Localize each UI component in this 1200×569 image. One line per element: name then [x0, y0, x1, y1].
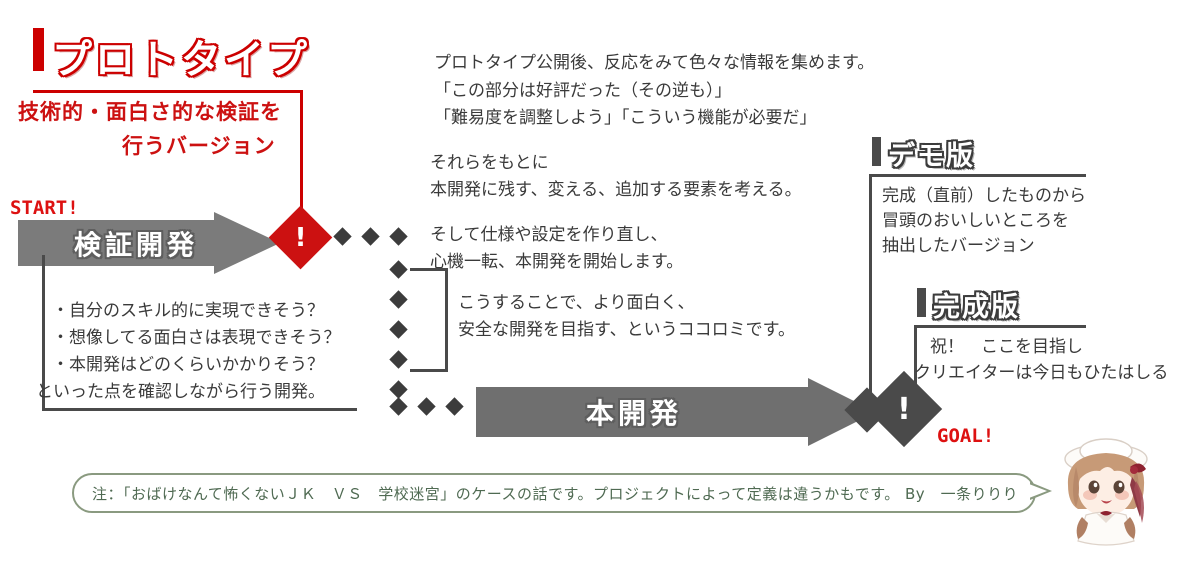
path-dot	[389, 290, 407, 308]
prototype-connector-top	[33, 90, 303, 93]
checklist-line-1: ・自分のスキル的に実現できそう？	[52, 298, 324, 324]
purpose-bracket-vertical	[445, 268, 448, 372]
footer-note-tail-inner	[1029, 484, 1047, 498]
prototype-checkpoint-bang: !	[278, 215, 323, 260]
path-dot	[389, 397, 407, 415]
path-dot	[389, 320, 407, 338]
path-dot	[417, 397, 435, 415]
bang-glyph: !	[295, 223, 307, 253]
final-bracket-top	[914, 325, 1086, 328]
purpose-bracket-bottom	[410, 369, 448, 372]
path-dot	[389, 380, 407, 398]
main-dev-arrow-label: 本開発	[586, 392, 682, 432]
verification-arrow-label: 検証開発	[74, 224, 198, 263]
bang-glyph: !	[897, 392, 911, 427]
rework-line-1: それらをもとに	[430, 150, 549, 176]
demo-bracket-top	[869, 174, 1086, 177]
path-dot	[361, 227, 379, 245]
final-heading-marker	[917, 288, 926, 317]
path-dot	[445, 397, 463, 415]
main-dev-arrow: 本開発	[476, 378, 876, 446]
demo-heading-marker	[872, 137, 881, 166]
prototype-subtitle-line1: 技術的・面白さ的な検証を	[18, 96, 282, 126]
goal-label: GOAL!	[937, 425, 994, 447]
footer-note-text: 注：「おばけなんて怖くないＪＫ ＶＳ 学校迷宮」のケースの話です。プロジェクトに…	[74, 483, 1018, 504]
purpose-bracket-top	[410, 268, 448, 271]
demo-line-3: 抽出したバージョン	[882, 233, 1035, 259]
restart-line-2: 心機一転、本開発を開始します。	[430, 249, 683, 275]
checklist-bracket-bottom	[42, 408, 357, 411]
restart-line-1: そして仕様や設定を作り直し、	[430, 222, 668, 248]
goal-checkpoint-bang: !	[877, 382, 931, 436]
prototype-heading-marker	[33, 28, 44, 71]
final-line-2: クリエイターは今日もひたはしる	[914, 360, 1168, 386]
path-dot	[389, 227, 407, 245]
mascot-character-art	[1046, 437, 1166, 557]
prototype-heading: プロトタイプ	[52, 27, 310, 85]
feedback-line-1: プロトタイプ公開後、反応をみて色々な情報を集めます。	[434, 50, 874, 76]
checklist-line-4: といった点を確認しながら行う開発。	[36, 379, 325, 405]
path-dot	[333, 227, 351, 245]
demo-line-1: 完成（直前）したものから	[882, 183, 1086, 209]
demo-line-2: 冒頭のおいしいところを	[882, 208, 1069, 234]
final-line-1: 祝！ ここを目指し	[930, 334, 1083, 360]
demo-heading: デモ版	[888, 134, 975, 173]
feedback-line-2: 「この部分は好評だった（その逆も）」	[434, 78, 732, 104]
demo-bracket-vertical	[869, 174, 872, 402]
purpose-line-1: こうすることで、より面白く、	[458, 290, 694, 316]
checklist-line-3: ・本開発はどのくらいかかりそう？	[52, 352, 324, 378]
verification-arrow: 検証開発	[18, 212, 280, 274]
infographic-canvas: プロトタイプ 技術的・面白さ的な検証を 行うバージョン START! 検証開発 …	[0, 0, 1200, 569]
rework-line-2: 本開発に残す、変える、追加する要素を考える。	[430, 177, 802, 203]
path-dot	[389, 260, 407, 278]
mascot-character	[1046, 437, 1166, 557]
final-heading: 完成版	[933, 285, 1020, 324]
prototype-subtitle-line2: 行うバージョン	[122, 130, 276, 160]
prototype-connector-vertical	[300, 90, 303, 215]
checklist-line-2: ・想像してる面白さは表現できそう？	[52, 325, 341, 351]
path-dot	[389, 350, 407, 368]
feedback-line-3: 「難易度を調整しよう」「こういう機能が必要だ」	[434, 105, 817, 131]
purpose-line-2: 安全な開発を目指す、というココロミです。	[458, 317, 795, 343]
footer-note-bubble: 注：「おばけなんて怖くないＪＫ ＶＳ 学校迷宮」のケースの話です。プロジェクトに…	[72, 473, 1036, 513]
